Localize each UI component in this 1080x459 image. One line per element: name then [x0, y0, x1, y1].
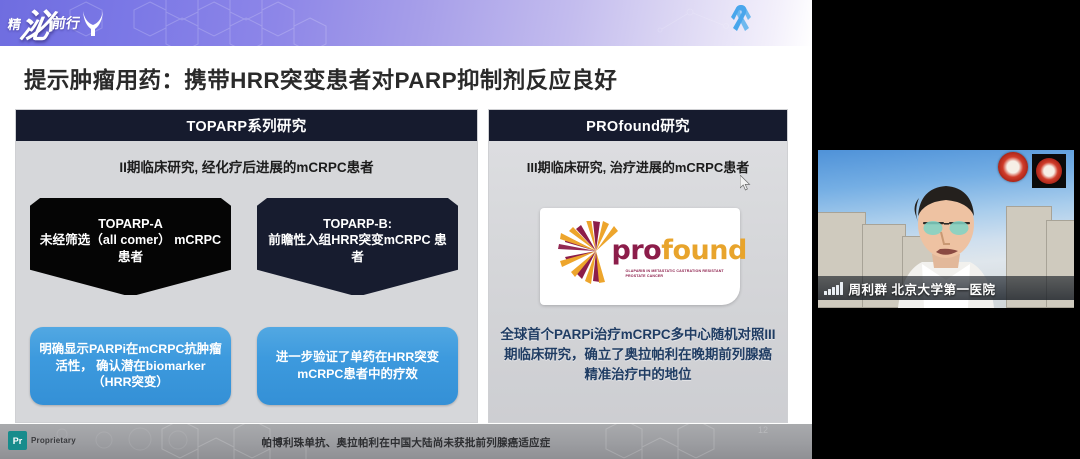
logo-char-2: 前行 — [51, 13, 82, 33]
screen: 精 泌 前行 提示肿瘤用药：携带HRR突变患者对PARP抑制剂反应良好 TOPA… — [0, 0, 1080, 459]
study-box-toparp-a-detail: 未经筛选（all comer） mCRPC患者 — [37, 232, 224, 265]
panel-toparp-header: TOPARP系列研究 — [16, 110, 477, 141]
slide-banner: 精 泌 前行 — [0, 0, 812, 46]
profound-tagline: OLAPARIB IN METASTATIC CASTRATION RESIST… — [626, 269, 728, 280]
profound-word-pro: pro — [612, 235, 662, 266]
signal-bars-icon — [824, 282, 843, 295]
conclusion-profound: 全球首个PARPi治疗mCRPC多中心随机对照III期临床研究，确立了奥拉帕利在… — [500, 325, 776, 384]
bull-horns-icon — [81, 8, 107, 38]
speaker-name: 周利群 北京大学第一医院 — [849, 279, 996, 298]
profound-word-found: found — [661, 235, 747, 266]
presentation-slide: 精 泌 前行 提示肿瘤用药：携带HRR突变患者对PARP抑制剂反应良好 TOPA… — [0, 0, 812, 459]
panel-toparp-subtitle: II期临床研究, 经化疗后进展的mCRPC患者 — [16, 156, 477, 176]
video-frame[interactable]: 周利群 北京大学第一医院 — [818, 150, 1074, 308]
institution-logo-badge — [1032, 154, 1066, 188]
profound-wordmark: profound — [612, 235, 747, 266]
program-logo: 精 泌 前行 — [8, 2, 133, 44]
logo-char-big: 泌 — [17, 0, 56, 46]
institution-seal-icon — [1036, 158, 1062, 184]
speaker-video-panel[interactable]: 周利群 北京大学第一医院 — [812, 0, 1080, 459]
panel-profound-header: PROfound研究 — [489, 110, 787, 141]
page-title: 提示肿瘤用药：携带HRR突变患者对PARP抑制剂反应良好 — [24, 63, 784, 95]
profound-logo-card: profound OLAPARIB IN METASTATIC CASTRATI… — [540, 208, 740, 305]
conclusion-box-toparp-b: 进一步验证了单药在HRR突变mCRPC患者中的疗效 — [257, 327, 458, 405]
study-box-toparp-a-title: TOPARP-A — [37, 216, 224, 233]
page-number: 12 — [758, 425, 768, 435]
panel-profound-subtitle: III期临床研究, 治疗进展的mCRPC患者 — [489, 157, 787, 176]
study-box-toparp-b-detail: 前瞻性入组HRR突变mCRPC 患者 — [264, 232, 451, 265]
conclusion-box-toparp-a: 明确显示PARPi在mCRPC抗肿瘤活性， 确认潜在biomarker（HRR突… — [30, 327, 231, 405]
slide-footer: Pr Proprietary 12 帕博利珠单抗、奥拉帕利在中国大陆尚未获批前列… — [0, 424, 812, 459]
footer-disclaimer: 帕博利珠单抗、奥拉帕利在中国大陆尚未获批前列腺癌适应症 — [0, 435, 812, 450]
mouse-cursor-icon — [740, 175, 751, 191]
study-box-toparp-b-title: TOPARP-B: — [264, 216, 451, 233]
institution-badge-icon — [998, 152, 1028, 182]
awareness-ribbon-icon — [728, 3, 754, 43]
speaker-name-bar: 周利群 北京大学第一医院 — [818, 276, 1074, 300]
